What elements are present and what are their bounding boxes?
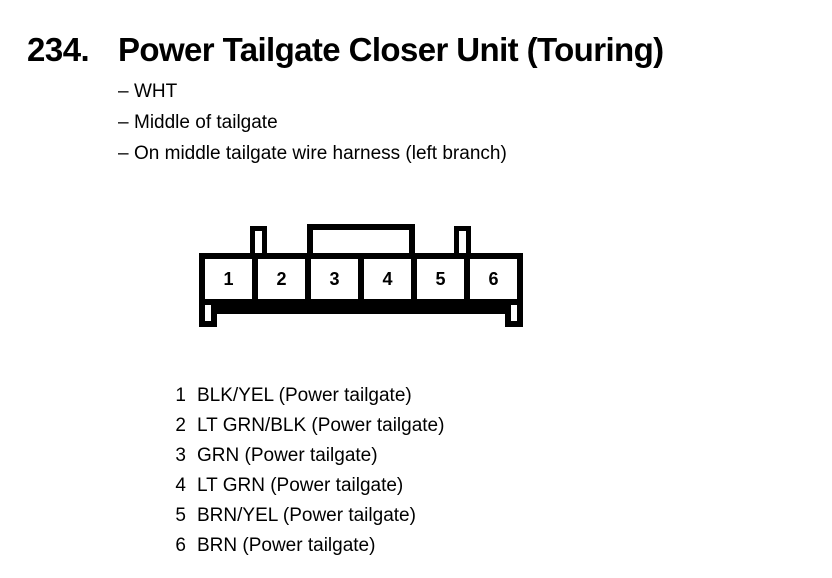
connector-cavity: 2 — [258, 259, 311, 299]
connector-cavity: 4 — [364, 259, 417, 299]
description-line: –Middle of tailgate — [118, 112, 778, 133]
locking-tab-center-icon — [307, 224, 415, 254]
cavity-number: 1 — [223, 270, 233, 288]
pin-number: 2 — [160, 415, 186, 437]
pin-number: 1 — [160, 385, 186, 407]
description-line: –WHT — [118, 81, 778, 102]
pin-number: 6 — [160, 535, 186, 557]
cavity-number: 5 — [435, 270, 445, 288]
pin-label: BRN/YEL (Power tailgate) — [197, 505, 416, 527]
pin-number: 4 — [160, 475, 186, 497]
cavity-number: 2 — [276, 270, 286, 288]
pin-row: 2LT GRN/BLK (Power tailgate) — [160, 415, 660, 437]
pin-assignment-list: 1BLK/YEL (Power tailgate) 2LT GRN/BLK (P… — [160, 385, 660, 565]
connector-foot-left — [199, 305, 217, 327]
pin-label: LT GRN/BLK (Power tailgate) — [197, 415, 444, 437]
cavity-number: 3 — [329, 270, 339, 288]
dash-bullet-icon: – — [118, 143, 134, 164]
description-list: –WHT –Middle of tailgate –On middle tail… — [118, 81, 778, 174]
pin-row: 1BLK/YEL (Power tailgate) — [160, 385, 660, 407]
pin-number: 5 — [160, 505, 186, 527]
dash-bullet-icon: – — [118, 81, 134, 102]
entry-number: 234. — [27, 30, 89, 70]
description-text: Middle of tailgate — [134, 112, 278, 133]
pin-label: BLK/YEL (Power tailgate) — [197, 385, 412, 407]
description-text: WHT — [134, 81, 177, 102]
pin-label: GRN (Power tailgate) — [197, 445, 378, 467]
cavity-number: 6 — [488, 270, 498, 288]
pin-row: 5BRN/YEL (Power tailgate) — [160, 505, 660, 527]
pin-number: 3 — [160, 445, 186, 467]
connector-cavity: 5 — [417, 259, 470, 299]
pin-label: LT GRN (Power tailgate) — [197, 475, 403, 497]
cavity-number: 4 — [382, 270, 392, 288]
connector-cavity: 3 — [311, 259, 364, 299]
pin-row: 3GRN (Power tailgate) — [160, 445, 660, 467]
description-text: On middle tailgate wire harness (left br… — [134, 143, 507, 164]
page-title: 234. Power Tailgate Closer Unit (Touring… — [27, 30, 817, 72]
component-title: Power Tailgate Closer Unit (Touring) — [118, 30, 664, 70]
connector-foot-right — [505, 305, 523, 327]
connector-cavity: 1 — [205, 259, 258, 299]
locking-tab-left-icon — [250, 226, 267, 254]
description-line: –On middle tailgate wire harness (left b… — [118, 143, 778, 164]
connector-body: 1 2 3 4 5 6 — [199, 253, 523, 305]
pin-label: BRN (Power tailgate) — [197, 535, 375, 557]
dash-bullet-icon: – — [118, 112, 134, 133]
connector-skirt — [211, 305, 511, 314]
pin-row: 6BRN (Power tailgate) — [160, 535, 660, 557]
locking-tab-right-icon — [454, 226, 471, 254]
connector-cavity: 6 — [470, 259, 517, 299]
pin-row: 4LT GRN (Power tailgate) — [160, 475, 660, 497]
connector-diagram: 1 2 3 4 5 6 — [199, 223, 529, 333]
